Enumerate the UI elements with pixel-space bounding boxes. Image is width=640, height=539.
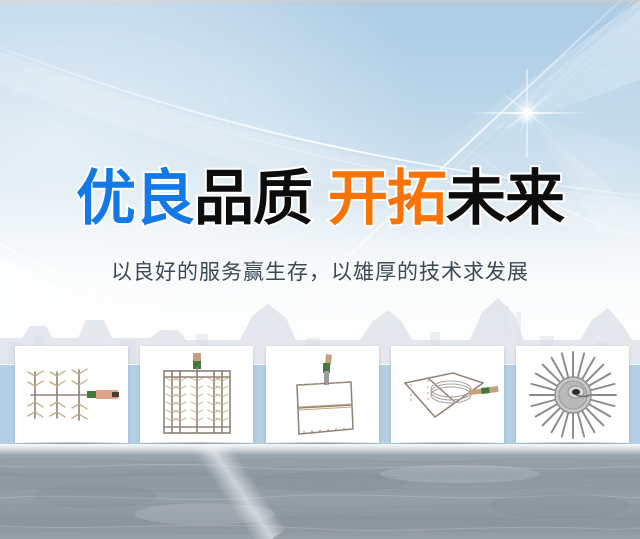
frame-rack-icon <box>279 351 365 439</box>
headline-segment-weilai: 未来 <box>446 164 564 234</box>
product-card-3[interactable] <box>266 346 379 443</box>
headline-segment-kaituo: 开拓 <box>328 164 446 234</box>
ground-texture <box>0 444 640 539</box>
product-card-2[interactable] <box>140 346 253 443</box>
promo-banner: 优良品质开拓未来 以良好的服务赢生存，以雄厚的技术求发展 <box>0 0 640 539</box>
flare-core <box>514 100 540 126</box>
page-subtitle: 以良好的服务赢生存，以雄厚的技术求发展 <box>0 256 640 288</box>
product-card-1[interactable] <box>15 346 128 443</box>
coil-panel-rack-icon <box>395 359 499 431</box>
spiked-rack-icon <box>152 351 242 439</box>
comb-rack-icon <box>19 354 125 436</box>
product-card-4[interactable] <box>391 346 504 443</box>
ground-surface <box>0 444 640 539</box>
sunburst-wheel-icon <box>527 350 619 440</box>
headline-segment-youliang: 优良 <box>76 164 194 234</box>
page-title: 优良品质开拓未来 <box>0 163 640 235</box>
product-card-strip <box>15 346 629 443</box>
headline-segment-pinzhi: 品质 <box>194 164 312 234</box>
ground-top-highlight <box>0 444 640 454</box>
product-card-5[interactable] <box>516 346 629 443</box>
